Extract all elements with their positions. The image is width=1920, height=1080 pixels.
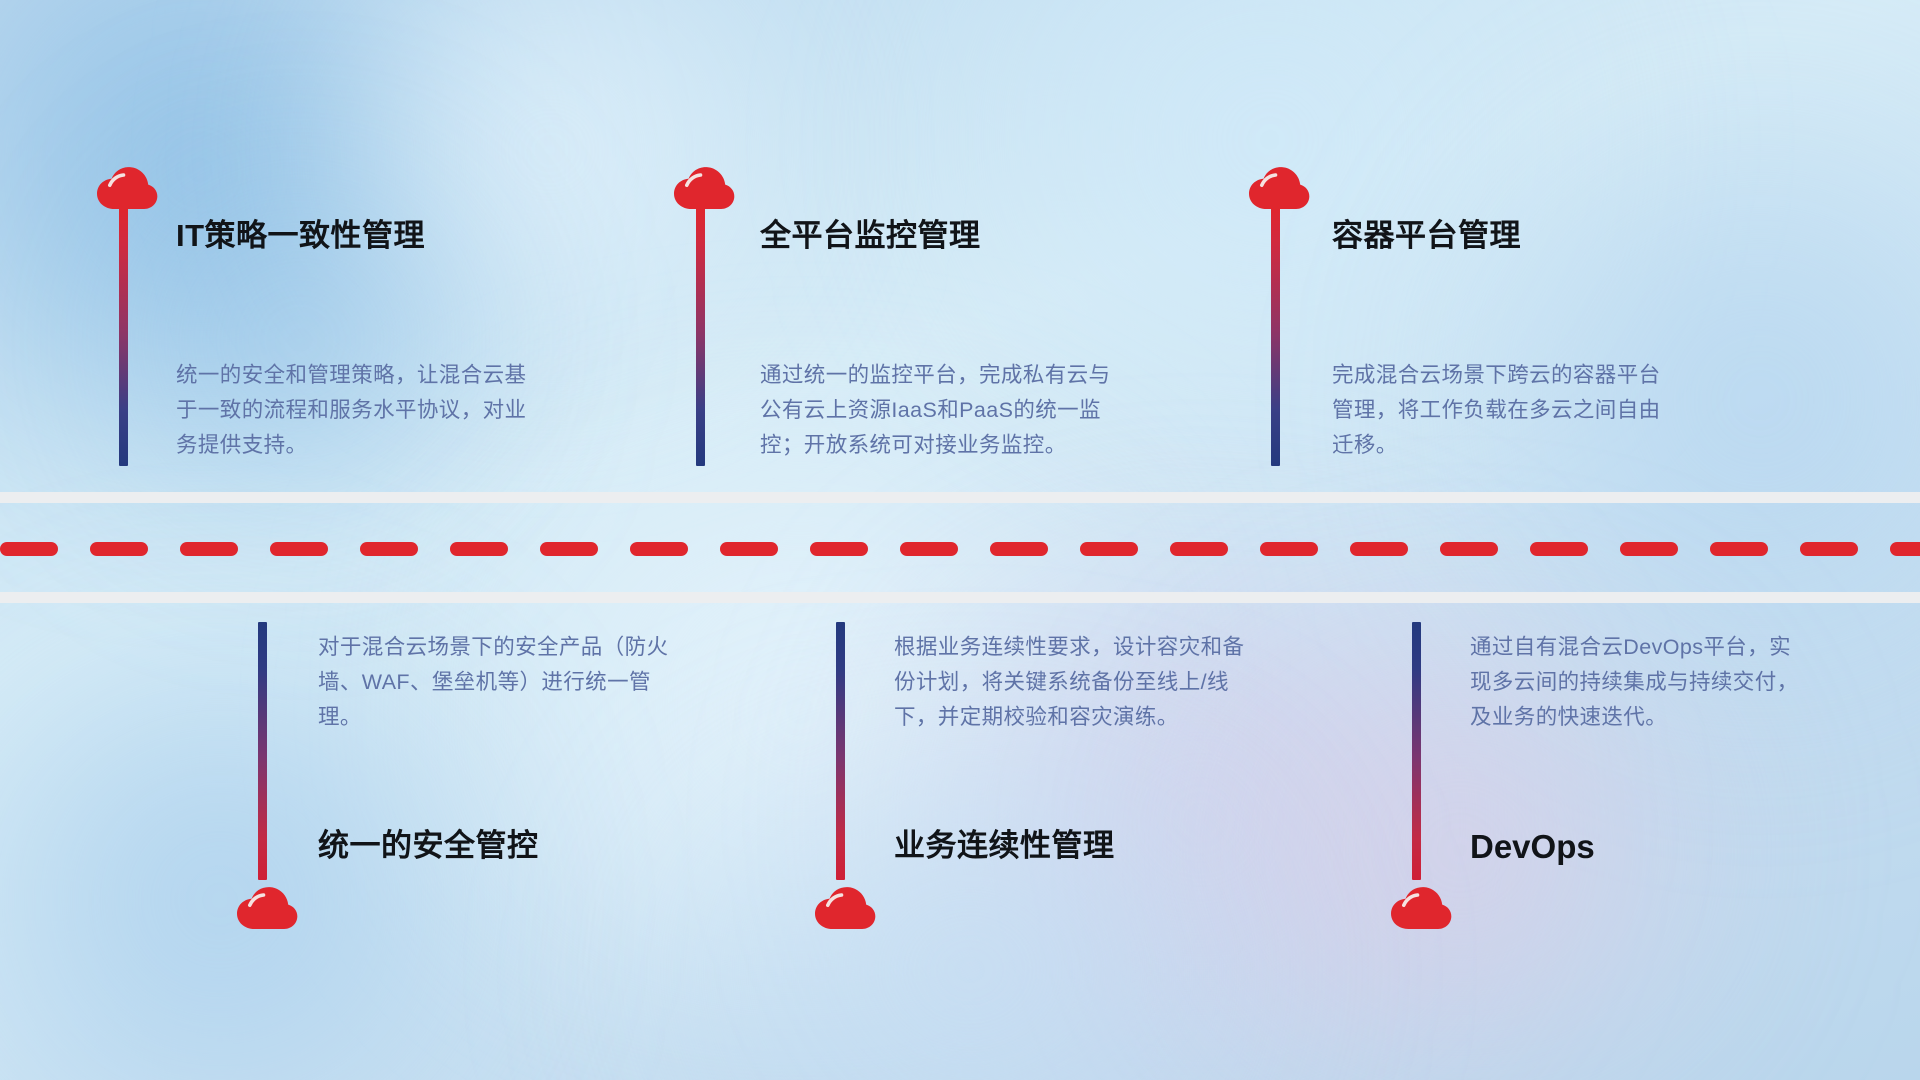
divider-dash	[360, 542, 418, 556]
divider-dash	[1890, 542, 1920, 556]
top-item-3-stem	[1271, 208, 1280, 466]
bottom-item-1	[236, 886, 298, 930]
cloud-icon	[96, 166, 158, 210]
divider-dash	[900, 542, 958, 556]
top-item-3-body-wrap: 完成混合云场景下跨云的容器平台管理，将工作负载在多云之间自由迁移。	[1332, 358, 1662, 463]
divider-dash	[1620, 542, 1678, 556]
bottom-item-3-title: DevOps	[1470, 830, 1595, 863]
top-item-2-body-wrap: 通过统一的监控平台，完成私有云与公有云上资源IaaS和PaaS的统一监控；开放系…	[760, 358, 1120, 463]
top-item-1-body-wrap: 统一的安全和管理策略，让混合云基于一致的流程和服务水平协议，对业务提供支持。	[176, 358, 536, 463]
divider-dash	[810, 542, 868, 556]
top-item-2-title-wrap: 全平台监控管理	[760, 220, 981, 251]
divider-dash	[990, 542, 1048, 556]
divider-dash	[0, 542, 58, 556]
bottom-item-2-stem	[836, 622, 845, 880]
divider-dash	[450, 542, 508, 556]
top-item-1	[96, 166, 158, 210]
divider-dash	[630, 542, 688, 556]
divider-dash	[1800, 542, 1858, 556]
top-item-3-title: 容器平台管理	[1332, 220, 1521, 251]
top-item-3-body: 完成混合云场景下跨云的容器平台管理，将工作负载在多云之间自由迁移。	[1332, 358, 1662, 463]
bottom-item-1-body-wrap: 对于混合云场景下的安全产品（防火墙、WAF、堡垒机等）进行统一管理。	[318, 630, 678, 735]
bottom-item-1-title-wrap: 统一的安全管控	[318, 830, 539, 861]
top-item-1-stem	[119, 208, 128, 466]
divider-dash	[1350, 542, 1408, 556]
divider-dash	[270, 542, 328, 556]
top-item-3-title-wrap: 容器平台管理	[1332, 220, 1521, 251]
top-item-1-body: 统一的安全和管理策略，让混合云基于一致的流程和服务水平协议，对业务提供支持。	[176, 358, 536, 463]
top-item-2-body: 通过统一的监控平台，完成私有云与公有云上资源IaaS和PaaS的统一监控；开放系…	[760, 358, 1120, 463]
top-item-1-title: IT策略一致性管理	[176, 220, 425, 251]
divider-dash	[1260, 542, 1318, 556]
divider-dash	[180, 542, 238, 556]
bottom-item-3-body-wrap: 通过自有混合云DevOps平台，实现多云间的持续集成与持续交付，及业务的快速迭代…	[1470, 630, 1800, 735]
top-item-1-title-wrap: IT策略一致性管理	[176, 220, 425, 251]
bottom-item-1-title: 统一的安全管控	[318, 830, 539, 861]
divider-dash	[1440, 542, 1498, 556]
cloud-icon	[1390, 886, 1452, 930]
infographic-canvas: IT策略一致性管理 统一的安全和管理策略，让混合云基于一致的流程和服务水平协议，…	[0, 0, 1920, 1080]
bottom-item-2-title: 业务连续性管理	[894, 830, 1115, 861]
top-item-2-title: 全平台监控管理	[760, 220, 981, 251]
divider-dash	[720, 542, 778, 556]
bottom-item-2-body: 根据业务连续性要求，设计容灾和备份计划，将关键系统备份至线上/线下，并定期校验和…	[894, 630, 1254, 735]
bottom-item-2-title-wrap: 业务连续性管理	[894, 830, 1115, 861]
divider-dash	[540, 542, 598, 556]
cloud-icon	[1248, 166, 1310, 210]
bottom-item-3-stem	[1412, 622, 1421, 880]
top-item-2	[673, 166, 735, 210]
divider-dash	[1080, 542, 1138, 556]
top-item-3	[1248, 166, 1310, 210]
cloud-icon	[814, 886, 876, 930]
divider-dash	[90, 542, 148, 556]
bottom-item-2-body-wrap: 根据业务连续性要求，设计容灾和备份计划，将关键系统备份至线上/线下，并定期校验和…	[894, 630, 1254, 735]
divider-dash	[1530, 542, 1588, 556]
bottom-item-2	[814, 886, 876, 930]
bottom-item-1-stem	[258, 622, 267, 880]
bottom-item-3	[1390, 886, 1452, 930]
bottom-item-3-body: 通过自有混合云DevOps平台，实现多云间的持续集成与持续交付，及业务的快速迭代…	[1470, 630, 1800, 735]
divider-dash	[1710, 542, 1768, 556]
divider-dash	[1170, 542, 1228, 556]
cloud-icon	[236, 886, 298, 930]
divider-dashed-line	[0, 542, 1920, 556]
top-item-2-stem	[696, 208, 705, 466]
bottom-item-3-title-wrap: DevOps	[1470, 830, 1595, 863]
cloud-icon	[673, 166, 735, 210]
bottom-item-1-body: 对于混合云场景下的安全产品（防火墙、WAF、堡垒机等）进行统一管理。	[318, 630, 678, 735]
divider-rule-top	[0, 492, 1920, 503]
divider-rule-bottom	[0, 592, 1920, 603]
